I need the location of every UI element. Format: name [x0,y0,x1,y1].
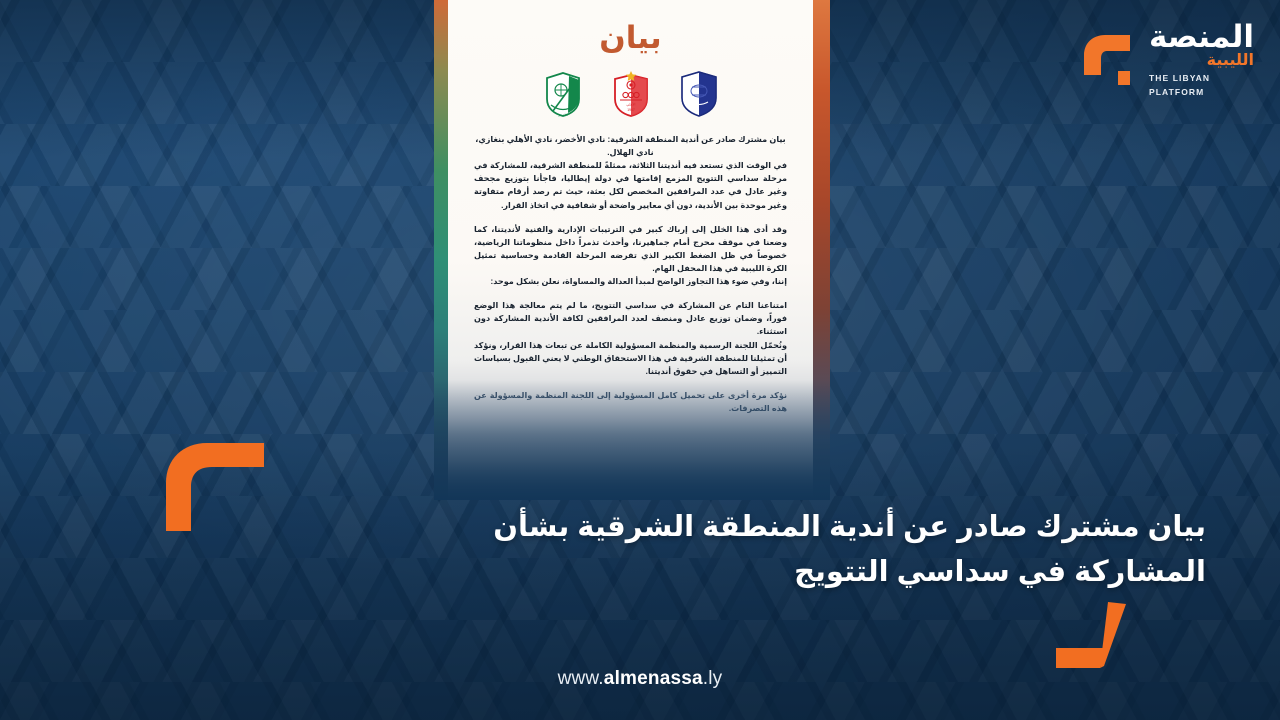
al-ahly-benghazi-crest-icon: الأهلي 1947 [612,71,650,117]
document-paragraph: بيان مشترك صادر عن أندية المنطقة الشرقية… [474,133,787,159]
document-bottom-fade [434,380,830,500]
svg-text:1947: 1947 [627,108,635,112]
document-paragraph: إننا، وفي ضوء هذا التجاوز الواضح لمبدأ ا… [474,275,787,288]
logo-english-line-1: THE LIBYAN [1149,73,1254,84]
document-title: بيان [448,0,813,53]
social-card-canvas: بيان [0,0,1280,720]
club-crests-row: الأهلي 1947 الأخضر [448,71,813,117]
site-url-prefix: www. [558,668,604,689]
orange-corner-hook-icon [1054,600,1146,670]
statement-document-image[interactable]: بيان [434,0,830,500]
site-url[interactable]: www.almenassa.ly [0,668,1280,690]
logo-english-line-2: PLATFORM [1149,87,1254,98]
logo-wordmark: المنصة الليبية THE LIBYAN PLATFORM [1149,22,1254,97]
document-paragraph: في الوقت الذي تستعد فيه أنديتنا الثلاثة،… [474,159,787,211]
logo-arabic-sub: الليبية [1149,52,1254,70]
logo-arabic-main: المنصة [1149,22,1254,51]
site-logo[interactable]: المنصة الليبية THE LIBYAN PLATFORM [1078,22,1254,97]
al-hilal-benghazi-crest-icon [680,71,718,117]
orange-bracket-mark-icon [160,441,268,533]
al-akhdar-crest-icon: الأخضر [544,71,582,117]
site-url-brand: almenassa [604,668,703,689]
document-paragraph: ونُحمّل اللجنة الرسمية والمنظمة المسؤولي… [474,339,787,378]
site-url-suffix: .ly [703,668,723,689]
headline-text: بيان مشترك صادر عن أندية المنطقة الشرقية… [386,505,1206,595]
document-body-text: بيان مشترك صادر عن أندية المنطقة الشرقية… [474,133,787,415]
almenassa-bracket-mark-icon [1078,29,1140,91]
document-paragraph: وقد أدى هذا الخلل إلى إرباك كبير في التر… [474,223,787,275]
svg-text:الأخضر: الأخضر [557,113,567,117]
document-paragraph: امتناعنا التام عن المشاركة في سداسي التت… [474,299,787,338]
